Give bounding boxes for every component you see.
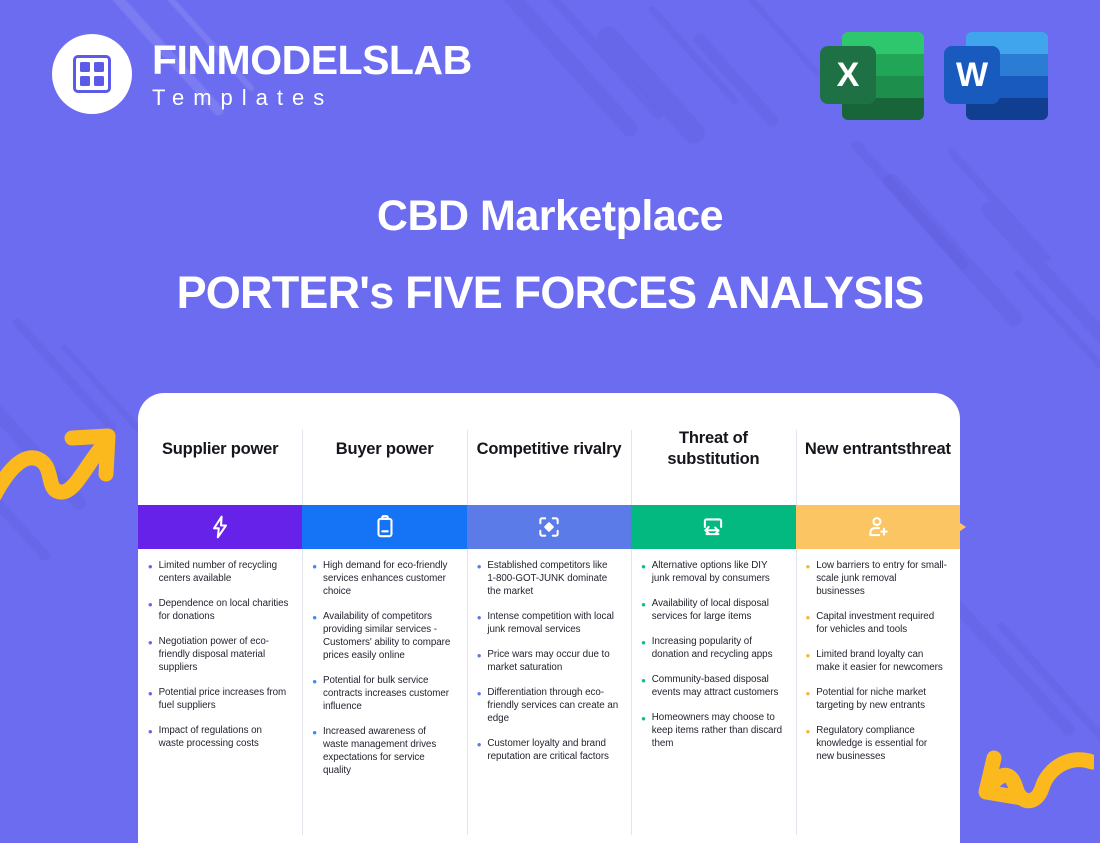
list-item: •Low barriers to entry for small-scale j…	[806, 559, 947, 598]
list-item: •Limited number of recycling centers ava…	[148, 559, 289, 585]
bullet-dot-icon: •	[477, 559, 482, 598]
list-item: •High demand for eco-friendly services e…	[312, 559, 453, 598]
bullet-dot-icon: •	[148, 686, 153, 712]
list-item: •Potential price increases from fuel sup…	[148, 686, 289, 712]
force-bullet-list: •Established competitors like 1-800-GOT-…	[467, 559, 631, 775]
excel-badge: X	[820, 46, 876, 104]
list-item: •Potential for bulk service contracts in…	[312, 674, 453, 713]
list-item-text: Low barriers to entry for small-scale ju…	[816, 559, 947, 598]
focus-target-icon	[536, 514, 562, 540]
list-item: •Alternative options like DIY junk remov…	[641, 559, 782, 585]
bullet-dot-icon: •	[641, 673, 646, 699]
force-column-2: Buyer power•High demand for eco-friendly…	[302, 393, 466, 843]
porters-five-forces-card: Supplier power•Limited number of recycli…	[138, 393, 960, 843]
bullet-dot-icon: •	[641, 597, 646, 623]
force-band-fill	[302, 505, 466, 549]
bullet-dot-icon: •	[477, 686, 482, 725]
bullet-dot-icon: •	[806, 559, 811, 598]
squiggly-arrow-down-left-icon	[964, 744, 1094, 843]
office-file-icons: X W	[820, 28, 1048, 120]
list-item-text: Regulatory compliance knowledge is essen…	[816, 724, 947, 763]
brand-logo: FINMODELSLAB Templates	[52, 34, 472, 114]
force-header-label: Buyer power	[336, 439, 434, 460]
list-item: •Dependence on local charities for donat…	[148, 597, 289, 623]
forces-columns: Supplier power•Limited number of recycli…	[138, 393, 960, 843]
list-item-text: Increasing popularity of donation and re…	[652, 635, 783, 661]
list-item: •Regulatory compliance knowledge is esse…	[806, 724, 947, 763]
lightning-bolt-icon	[207, 514, 233, 540]
logo-mark	[52, 34, 132, 114]
list-item-text: High demand for eco-friendly services en…	[323, 559, 454, 598]
word-icon: W	[944, 28, 1048, 120]
force-band	[138, 505, 302, 549]
bullet-dot-icon: •	[806, 724, 811, 763]
bullet-dot-icon: •	[148, 724, 153, 750]
bullet-dot-icon: •	[312, 610, 317, 662]
force-band-fill	[138, 505, 302, 549]
force-band	[796, 505, 960, 549]
squiggly-arrow-up-right-icon	[0, 404, 122, 519]
list-item-text: Homeowners may choose to keep items rath…	[652, 711, 783, 750]
force-column-5: New entrantsthreat•Low barriers to entry…	[796, 393, 960, 843]
force-band-fill	[796, 505, 960, 549]
list-item: •Increasing popularity of donation and r…	[641, 635, 782, 661]
list-item: •Availability of competitors providing s…	[312, 610, 453, 662]
list-item: •Price wars may occur due to market satu…	[477, 648, 618, 674]
bullet-dot-icon: •	[312, 559, 317, 598]
brand-subtitle: Templates	[152, 87, 472, 109]
bullet-dot-icon: •	[641, 711, 646, 750]
list-item-text: Price wars may occur due to market satur…	[487, 648, 618, 674]
list-item-text: Potential for bulk service contracts inc…	[323, 674, 454, 713]
list-item: •Homeowners may choose to keep items rat…	[641, 711, 782, 750]
excel-icon: X	[820, 28, 924, 120]
list-item-text: Capital investment required for vehicles…	[816, 610, 947, 636]
force-bullet-list: •Limited number of recycling centers ava…	[138, 559, 302, 762]
list-item: •Potential for niche market targeting by…	[806, 686, 947, 712]
bullet-dot-icon: •	[148, 635, 153, 674]
list-item-text: Dependence on local charities for donati…	[159, 597, 290, 623]
bullet-dot-icon: •	[312, 725, 317, 777]
bullet-dot-icon: •	[477, 737, 482, 763]
bullet-dot-icon: •	[477, 648, 482, 674]
bullet-dot-icon: •	[806, 610, 811, 636]
title-area: CBD Marketplace PORTER's FIVE FORCES ANA…	[0, 192, 1100, 318]
bullet-dot-icon: •	[148, 597, 153, 623]
list-item: •Customer loyalty and brand reputation a…	[477, 737, 618, 763]
list-item: •Negotiation power of eco-friendly dispo…	[148, 635, 289, 674]
list-item-text: Increased awareness of waste management …	[323, 725, 454, 777]
bullet-dot-icon: •	[641, 635, 646, 661]
excel-letter: X	[837, 58, 860, 92]
force-header: Competitive rivalry	[467, 393, 631, 505]
list-item-text: Community-based disposal events may attr…	[652, 673, 783, 699]
list-item-text: Impact of regulations on waste processin…	[159, 724, 290, 750]
clipboard-icon	[372, 514, 398, 540]
bullet-dot-icon: •	[312, 674, 317, 713]
list-item: •Differentiation through eco-friendly se…	[477, 686, 618, 725]
force-header: New entrantsthreat	[796, 393, 960, 505]
list-item: •Availability of local disposal services…	[641, 597, 782, 623]
list-item-text: Potential for niche market targeting by …	[816, 686, 947, 712]
list-item-text: Availability of local disposal services …	[652, 597, 783, 623]
force-bullet-list: •Alternative options like DIY junk remov…	[631, 559, 795, 762]
list-item-text: Limited brand loyalty can make it easier…	[816, 648, 947, 674]
force-band	[631, 505, 795, 549]
exchange-arrows-icon	[700, 514, 726, 540]
page-header: FINMODELSLAB Templates X W	[0, 0, 1100, 150]
add-user-icon	[865, 514, 891, 540]
force-header-label: Supplier power	[162, 439, 278, 460]
bullet-dot-icon: •	[806, 686, 811, 712]
force-band	[302, 505, 466, 549]
bullet-dot-icon: •	[477, 610, 482, 636]
list-item: •Intense competition with local junk rem…	[477, 610, 618, 636]
word-badge: W	[944, 46, 1000, 104]
list-item-text: Alternative options like DIY junk remova…	[652, 559, 783, 585]
bullet-dot-icon: •	[148, 559, 153, 585]
force-column-1: Supplier power•Limited number of recycli…	[138, 393, 302, 843]
list-item-text: Negotiation power of eco-friendly dispos…	[159, 635, 290, 674]
force-column-4: Threat of substitution•Alternative optio…	[631, 393, 795, 843]
list-item: •Limited brand loyalty can make it easie…	[806, 648, 947, 674]
force-band	[467, 505, 631, 549]
list-item-text: Differentiation through eco-friendly ser…	[487, 686, 618, 725]
force-band-fill	[631, 505, 795, 549]
list-item-text: Intense competition with local junk remo…	[487, 610, 618, 636]
force-column-3: Competitive rivalry•Established competit…	[467, 393, 631, 843]
force-header-label: New entrantsthreat	[805, 439, 951, 460]
list-item: •Impact of regulations on waste processi…	[148, 724, 289, 750]
grid-squares-icon	[73, 55, 111, 93]
list-item: •Community-based disposal events may att…	[641, 673, 782, 699]
list-item: •Capital investment required for vehicle…	[806, 610, 947, 636]
list-item: •Established competitors like 1-800-GOT-…	[477, 559, 618, 598]
force-header: Buyer power	[302, 393, 466, 505]
brand-name: FINMODELSLAB	[152, 40, 472, 81]
list-item-text: Potential price increases from fuel supp…	[159, 686, 290, 712]
force-band-fill	[467, 505, 631, 549]
force-header: Supplier power	[138, 393, 302, 505]
page-subtitle: PORTER's FIVE FORCES ANALYSIS	[0, 268, 1100, 318]
list-item-text: Customer loyalty and brand reputation ar…	[487, 737, 618, 763]
list-item-text: Availability of competitors providing si…	[323, 610, 454, 662]
word-letter: W	[956, 58, 988, 92]
force-header: Threat of substitution	[631, 393, 795, 505]
bullet-dot-icon: •	[641, 559, 646, 585]
force-header-label: Threat of substitution	[639, 428, 787, 469]
page-title: CBD Marketplace	[0, 192, 1100, 241]
list-item-text: Limited number of recycling centers avai…	[159, 559, 290, 585]
list-item-text: Established competitors like 1-800-GOT-J…	[487, 559, 618, 598]
force-bullet-list: •High demand for eco-friendly services e…	[302, 559, 466, 789]
force-header-label: Competitive rivalry	[477, 439, 622, 460]
force-bullet-list: •Low barriers to entry for small-scale j…	[796, 559, 960, 775]
list-item: •Increased awareness of waste management…	[312, 725, 453, 777]
bullet-dot-icon: •	[806, 648, 811, 674]
